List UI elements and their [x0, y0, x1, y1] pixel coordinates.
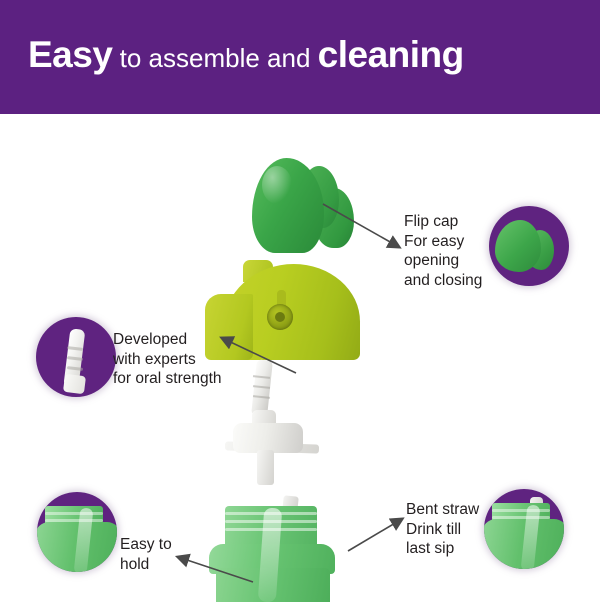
badge-easy-hold	[37, 492, 117, 572]
callout-label-easy-hold: Easy to hold	[120, 535, 172, 574]
title-thin-middle: to assemble and	[112, 43, 317, 73]
callout-label-developed: Developed with experts for oral strength	[113, 330, 222, 389]
badge-bottle-thread	[45, 512, 103, 515]
flip-cap-photo-icon	[489, 206, 569, 286]
badge-bent-straw	[484, 489, 564, 569]
valve-body	[233, 423, 303, 453]
product-bottle	[205, 500, 365, 600]
cap-highlight	[262, 166, 292, 204]
infographic-canvas: Easy to assemble and cleaning	[0, 0, 600, 600]
badge-developed	[36, 317, 116, 397]
valve-lower-straw	[257, 450, 274, 485]
title-bold-cleaning: cleaning	[318, 34, 464, 75]
header-banner: Easy to assemble and cleaning	[0, 0, 600, 114]
callout-label-flip-cap: Flip cap For easy opening and closing	[404, 212, 482, 290]
product-lid	[205, 264, 360, 361]
bottle-neck-photo-icon	[484, 489, 564, 569]
title-bold-easy: Easy	[28, 34, 112, 75]
badge-spout-base	[63, 374, 86, 394]
badge-flip-cap	[489, 206, 569, 286]
callout-label-bent-straw: Bent straw Drink till last sip	[406, 500, 479, 559]
page-title: Easy to assemble and cleaning	[28, 36, 464, 73]
lid-vent-hole	[275, 312, 285, 322]
product-valve-assembly	[225, 360, 350, 495]
spout-photo-icon	[36, 317, 116, 397]
bottle-neck-photo-icon	[37, 492, 117, 572]
product-flip-cap	[252, 150, 362, 255]
badge-cap-lobe-main	[495, 220, 541, 272]
badge-bottle-thread	[492, 509, 550, 512]
